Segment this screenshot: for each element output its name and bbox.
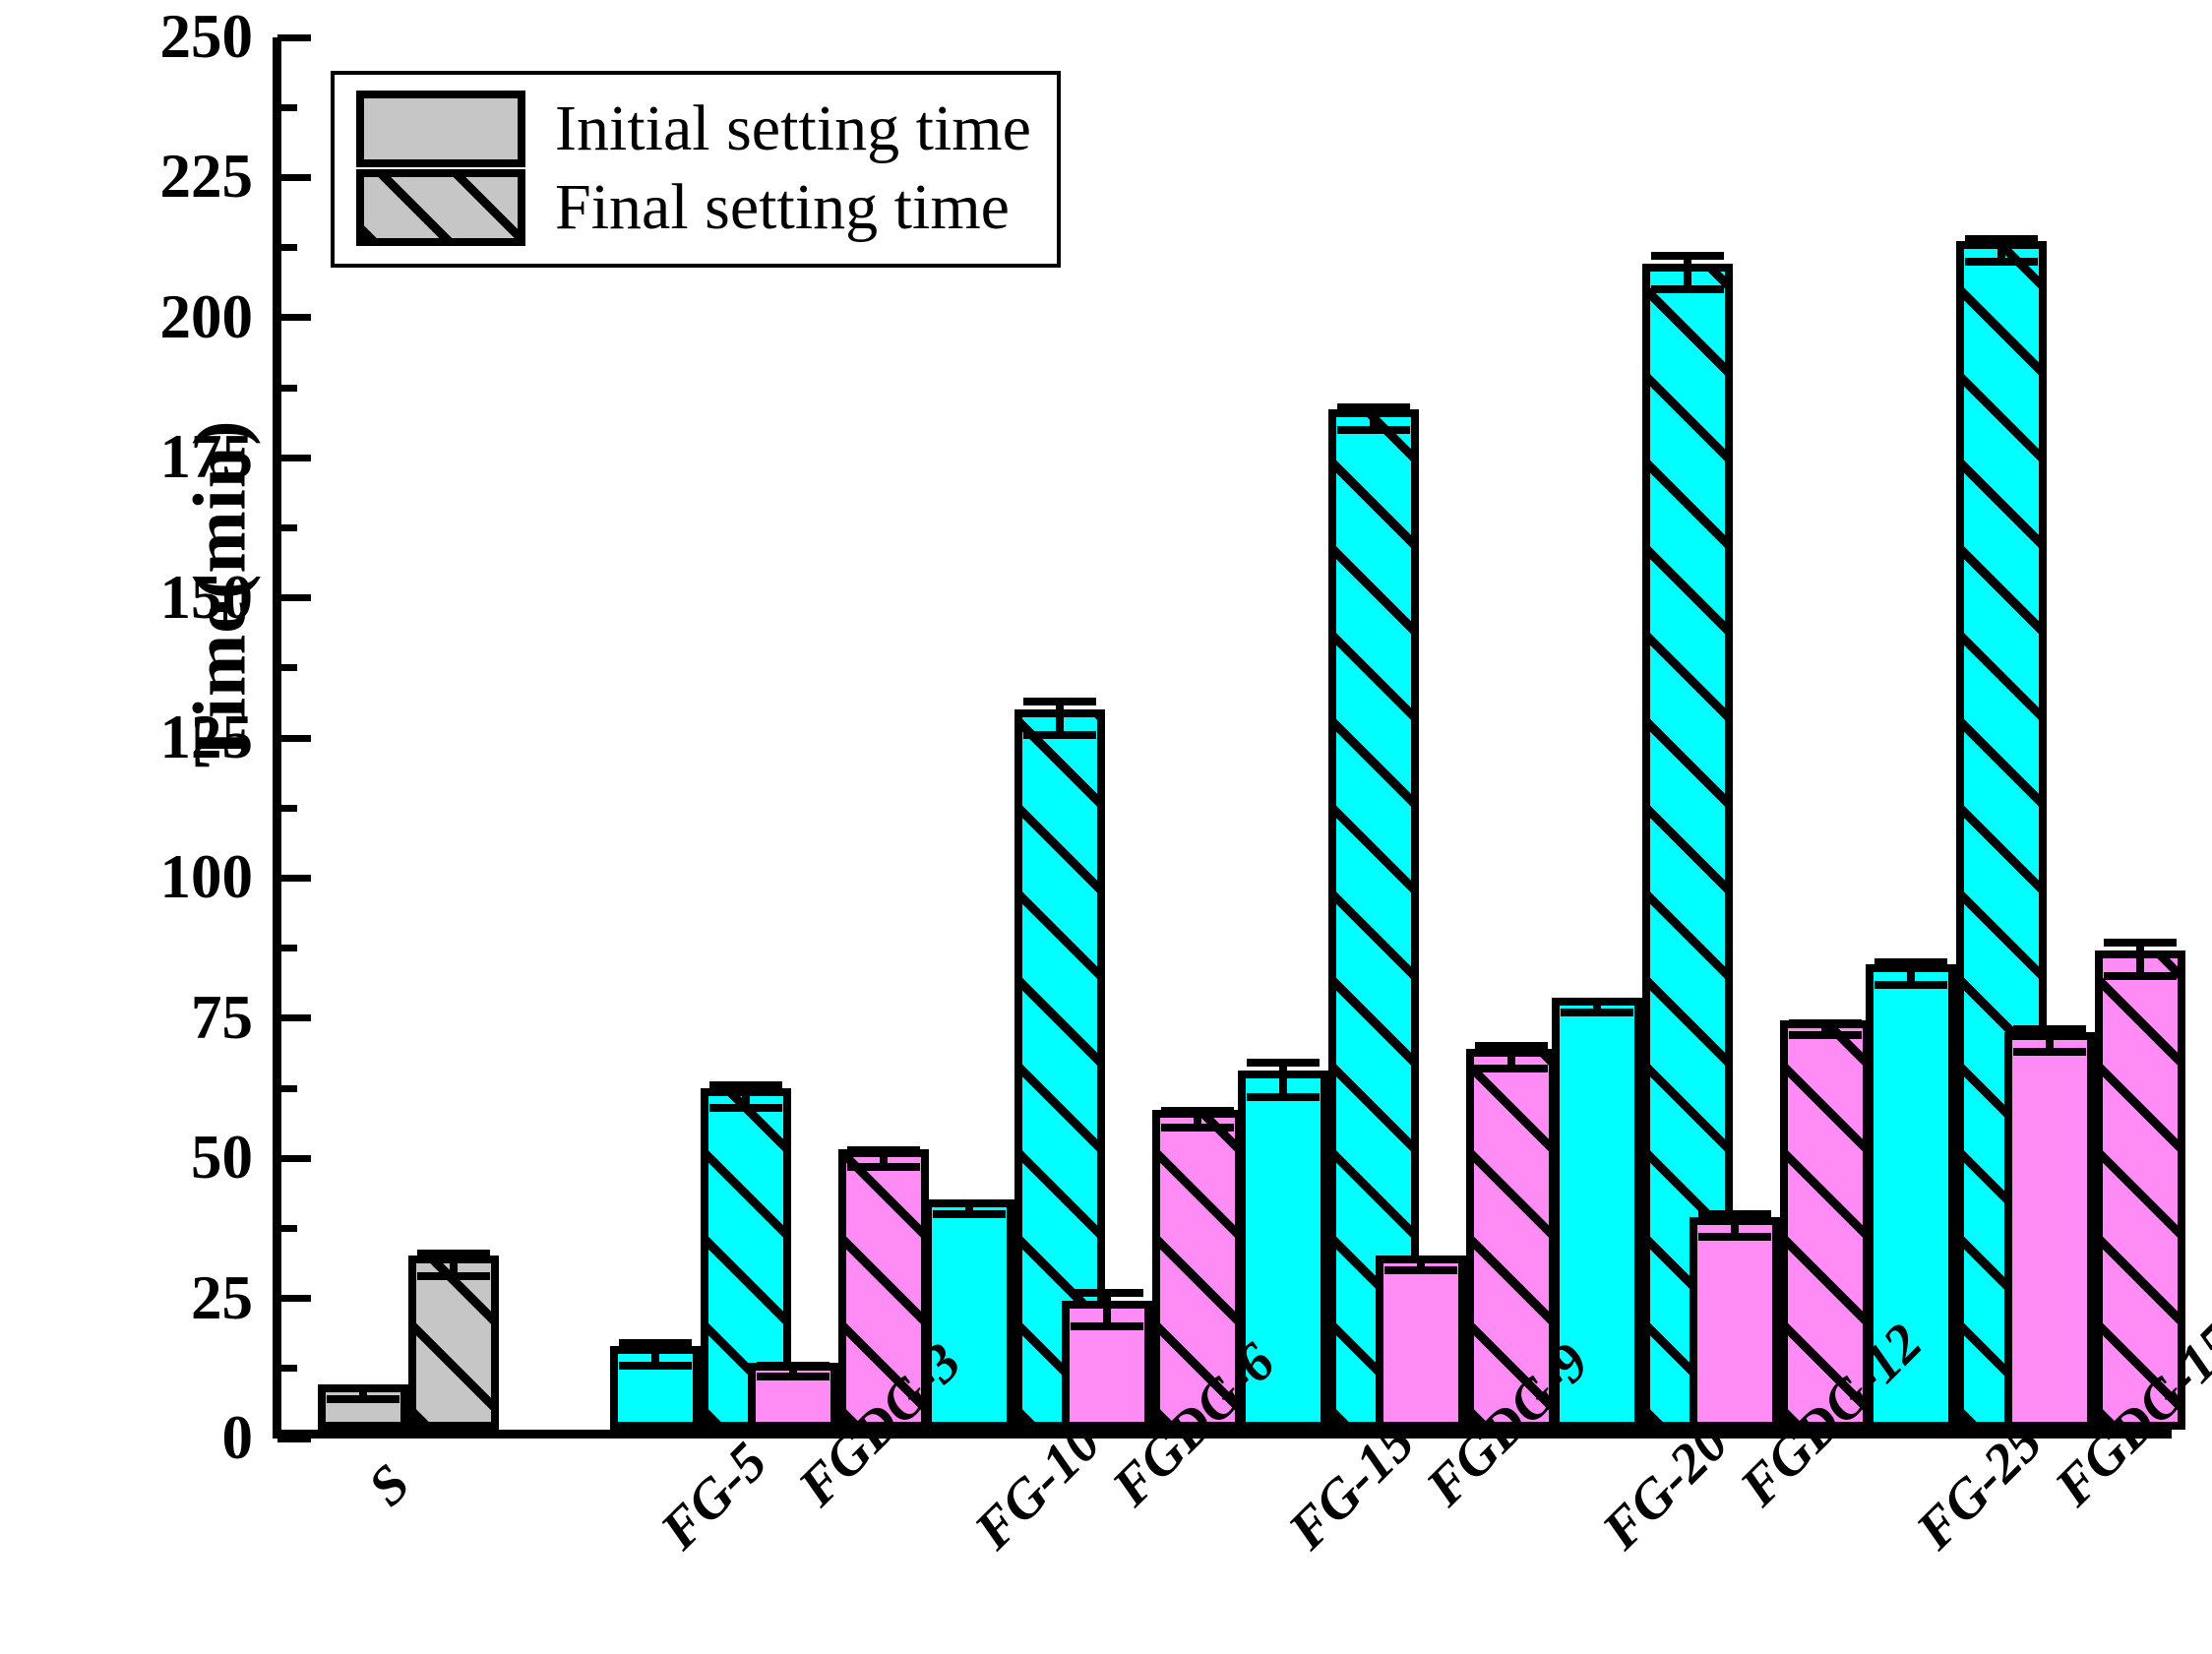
legend-swatch-final-icon bbox=[356, 169, 525, 246]
y-axis-tick-major bbox=[277, 1014, 311, 1021]
y-axis-tick-label: 175 bbox=[7, 426, 253, 488]
y-axis-tick-major bbox=[277, 455, 311, 461]
y-axis-tick-label: 150 bbox=[7, 567, 253, 629]
bar-initial-FGDG-9 bbox=[1376, 1256, 1466, 1430]
bar-final-S bbox=[408, 1256, 499, 1430]
y-axis-tick-label: 75 bbox=[7, 987, 253, 1049]
y-axis-tick-major bbox=[277, 314, 311, 321]
legend-label-final: Final setting time bbox=[555, 173, 1010, 241]
legend-item-final: Final setting time bbox=[356, 169, 1031, 246]
y-axis-tick-minor bbox=[277, 805, 297, 812]
bar-initial-FGDG-15 bbox=[2004, 1032, 2095, 1430]
y-axis-tick-minor bbox=[277, 1225, 297, 1232]
x-axis-tick-label-S: S bbox=[356, 1452, 422, 1518]
y-axis-tick-major bbox=[277, 1436, 311, 1442]
legend-item-initial: Initial setting time bbox=[356, 91, 1031, 167]
y-axis-tick-major bbox=[277, 735, 311, 742]
y-axis-tick-minor bbox=[277, 945, 297, 951]
x-axis-tick bbox=[1638, 1412, 1645, 1434]
y-axis-tick-major bbox=[277, 594, 311, 601]
x-axis-tick bbox=[1953, 1412, 1960, 1434]
x-axis-tick bbox=[697, 1412, 704, 1434]
y-axis-tick-label: 0 bbox=[7, 1407, 253, 1469]
y-axis-tick-minor bbox=[277, 1365, 297, 1372]
y-axis-tick-label: 125 bbox=[7, 706, 253, 768]
y-axis-tick-label: 225 bbox=[7, 146, 253, 208]
chart-figure: Time(min) 0255075100125150175200225250 I… bbox=[0, 0, 2212, 1654]
y-axis-tick-major bbox=[277, 1155, 311, 1162]
y-axis-tick-minor bbox=[277, 104, 297, 111]
chart-legend: Initial setting time Final setting time bbox=[331, 71, 1061, 268]
y-axis-tick-minor bbox=[277, 1085, 297, 1092]
bar-initial-FGDG-12 bbox=[1690, 1217, 1780, 1430]
y-axis-tick-minor bbox=[277, 664, 297, 671]
y-axis-tick-label: 100 bbox=[7, 846, 253, 908]
x-axis-tick bbox=[1324, 1412, 1331, 1434]
y-axis-tick-label: 50 bbox=[7, 1127, 253, 1189]
y-axis-tick-major bbox=[277, 1295, 311, 1302]
y-axis-tick-major bbox=[277, 34, 311, 41]
x-axis-tick-label-FG-5: FG-5 bbox=[648, 1431, 779, 1562]
y-axis-tick-major bbox=[277, 174, 311, 181]
x-axis-tick bbox=[1011, 1412, 1017, 1434]
legend-swatch-initial-icon bbox=[356, 91, 525, 167]
y-axis-tick-label: 250 bbox=[7, 6, 253, 68]
y-axis-tick-label: 200 bbox=[7, 286, 253, 348]
y-axis-tick-minor bbox=[277, 385, 297, 392]
y-axis-tick-minor bbox=[277, 524, 297, 531]
y-axis-tick-minor bbox=[277, 244, 297, 251]
x-axis-tick bbox=[405, 1412, 412, 1434]
legend-label-initial: Initial setting time bbox=[555, 94, 1031, 162]
y-axis-tick-major bbox=[277, 875, 311, 882]
y-axis-tick-label: 25 bbox=[7, 1267, 253, 1329]
